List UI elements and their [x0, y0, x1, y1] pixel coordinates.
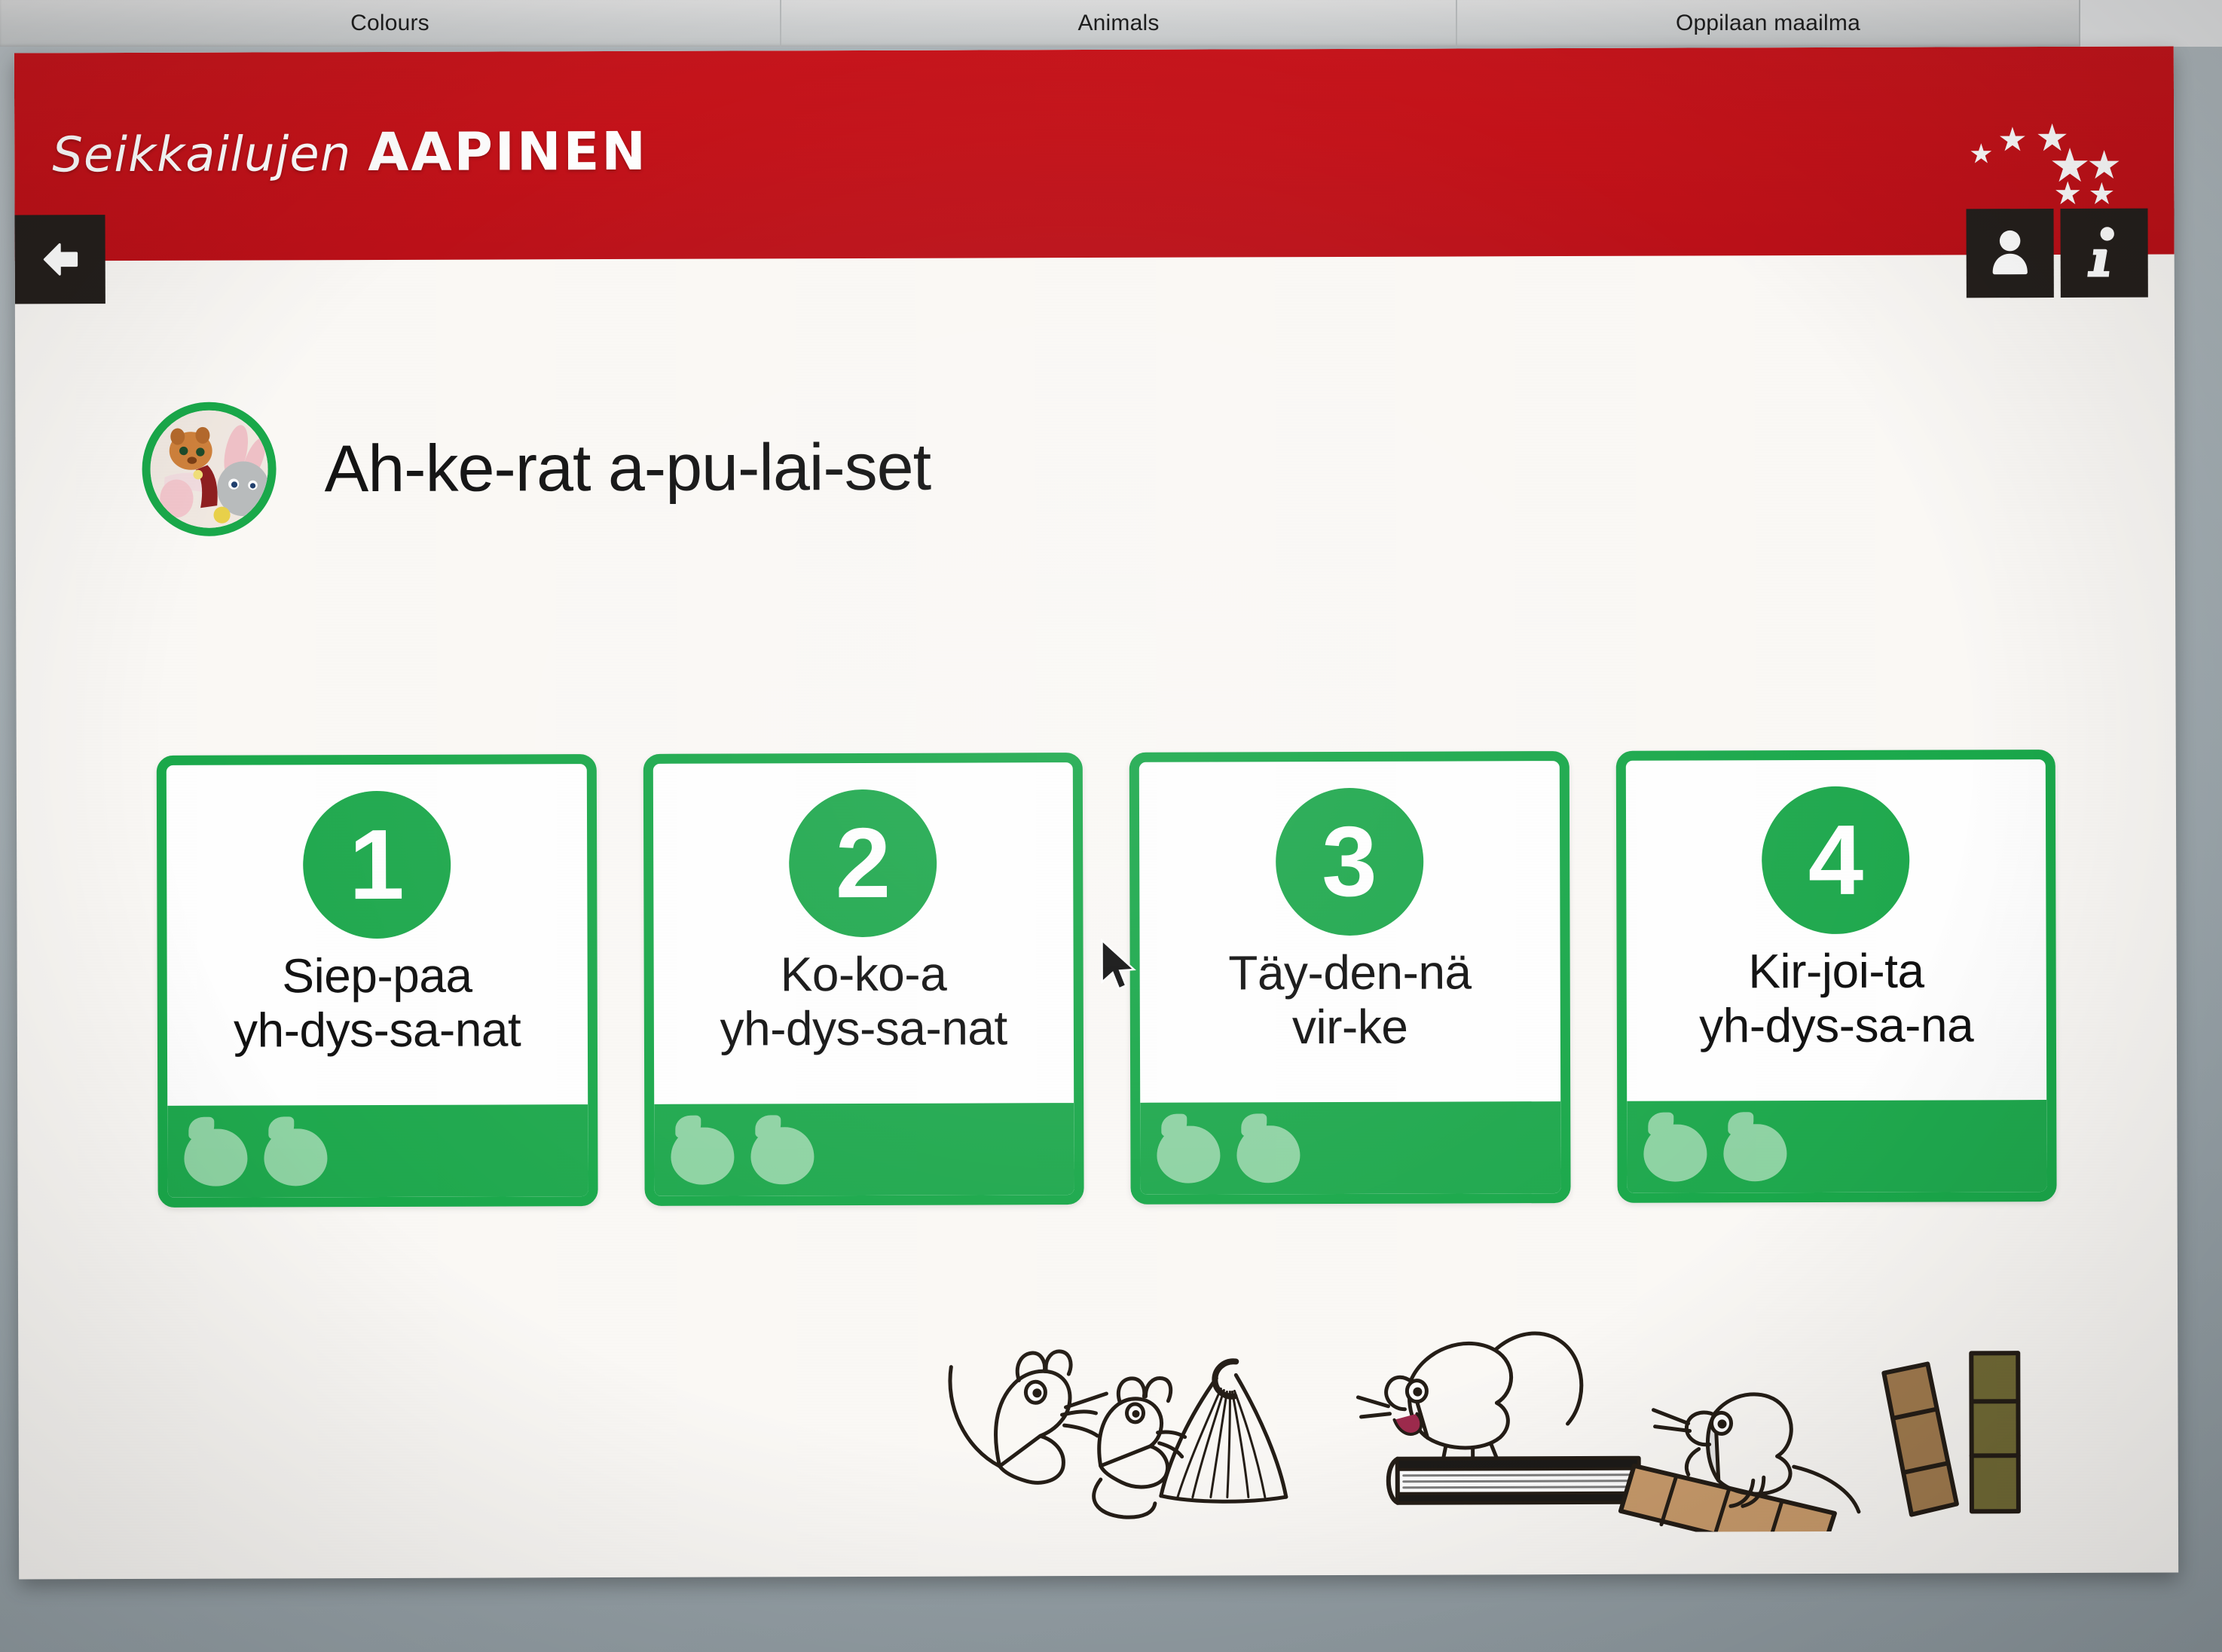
card-label: Siep-paa yh-dys-sa-nat — [173, 948, 582, 1058]
browser-tab-oppilaan-maailma[interactable]: Oppilaan maailma — [1457, 0, 2080, 47]
card-number-badge: 4 — [1762, 786, 1910, 935]
card-progress-footer — [1627, 1100, 2047, 1193]
app-logo[interactable]: SeikkailujenAAPINEN — [52, 121, 648, 184]
exercise-card-2[interactable]: 2 Ko-ko-a yh-dys-sa-nat — [643, 753, 1083, 1206]
back-button[interactable] — [15, 215, 105, 304]
app-page: SeikkailujenAAPINEN ★ ★ ★ ★ ★ ★ ★ — [14, 47, 2178, 1580]
star-icon: ★ — [1997, 124, 2028, 157]
card-label-line2: yh-dys-sa-nat — [659, 1001, 1068, 1056]
apple-icon — [1723, 1112, 1786, 1181]
card-label-line1: Siep-paa — [173, 948, 582, 1003]
lesson-title-row: Ah-ke-rat a-pu-lai-set — [15, 393, 2175, 551]
card-number-badge: 3 — [1276, 788, 1424, 936]
exercise-card-3[interactable]: 3 Täy-den-nä vir-ke — [1129, 751, 1570, 1205]
apple-icon — [1157, 1113, 1220, 1183]
mouse-cursor — [1099, 939, 1142, 997]
squirrel-and-rabbit-avatar — [150, 410, 269, 529]
browser-tab-strip: Colours Animals Oppilaan maailma — [0, 0, 2222, 47]
app-header-bar: SeikkailujenAAPINEN ★ ★ ★ ★ ★ ★ ★ — [14, 47, 2175, 261]
card-progress-footer — [1140, 1101, 1560, 1195]
browser-tab-label: Oppilaan maailma — [1676, 11, 1860, 36]
browser-tab-strip-filler — [2080, 0, 2222, 47]
star-icon: ★ — [2088, 179, 2115, 209]
card-label: Ko-ko-a yh-dys-sa-nat — [659, 947, 1068, 1056]
card-number-badge: 1 — [303, 791, 451, 939]
browser-tab-colours[interactable]: Colours — [0, 0, 781, 47]
avatar[interactable] — [142, 402, 277, 536]
browser-tab-label: Animals — [1077, 11, 1159, 36]
app-logo-word-seikkailujen: Seikkailujen — [52, 127, 351, 183]
mice-and-books-drawing — [945, 1275, 2166, 1534]
apple-icon — [1643, 1112, 1707, 1181]
card-label-line2: yh-dys-sa-nat — [173, 1003, 582, 1058]
info-i-icon — [2087, 224, 2122, 282]
apple-icon — [750, 1115, 814, 1184]
apple-icon — [184, 1117, 247, 1186]
card-progress-footer — [654, 1103, 1074, 1196]
card-label: Täy-den-nä vir-ke — [1146, 945, 1554, 1055]
card-progress-footer — [167, 1104, 588, 1198]
card-label: Kir-joi-ta yh-dys-sa-na — [1632, 944, 2040, 1053]
page-title: Ah-ke-rat a-pu-lai-set — [324, 429, 931, 508]
info-button[interactable] — [2060, 209, 2147, 298]
stars-decoration: ★ ★ ★ ★ ★ ★ ★ — [1969, 113, 2127, 182]
app-logo-word-aapinen: AAPINEN — [368, 121, 648, 183]
user-profile-button[interactable] — [1966, 209, 2053, 298]
browser-tab-animals[interactable]: Animals — [781, 0, 1457, 47]
apple-icon — [671, 1116, 734, 1185]
user-person-icon — [1985, 226, 2035, 280]
browser-tab-label: Colours — [350, 11, 429, 36]
card-label-line1: Kir-joi-ta — [1632, 944, 2040, 999]
back-arrow-icon — [32, 231, 88, 287]
card-label-line1: Ko-ko-a — [659, 947, 1068, 1002]
mice-and-books-illustration — [945, 1275, 2166, 1534]
exercise-card-1[interactable]: 1 Siep-paa yh-dys-sa-nat — [157, 754, 598, 1208]
card-number-badge: 2 — [789, 789, 937, 938]
apple-icon — [1236, 1113, 1300, 1183]
exercise-card-4[interactable]: 4 Kir-joi-ta yh-dys-sa-na — [1615, 750, 2056, 1203]
card-label-line2: vir-ke — [1146, 1000, 1554, 1055]
star-icon: ★ — [1969, 140, 1993, 167]
card-label-line1: Täy-den-nä — [1146, 945, 1554, 1000]
card-label-line2: yh-dys-sa-na — [1632, 998, 2040, 1053]
star-icon: ★ — [2053, 178, 2082, 209]
apple-icon — [264, 1116, 327, 1186]
mouse-pointer-arrow — [1099, 939, 1142, 993]
